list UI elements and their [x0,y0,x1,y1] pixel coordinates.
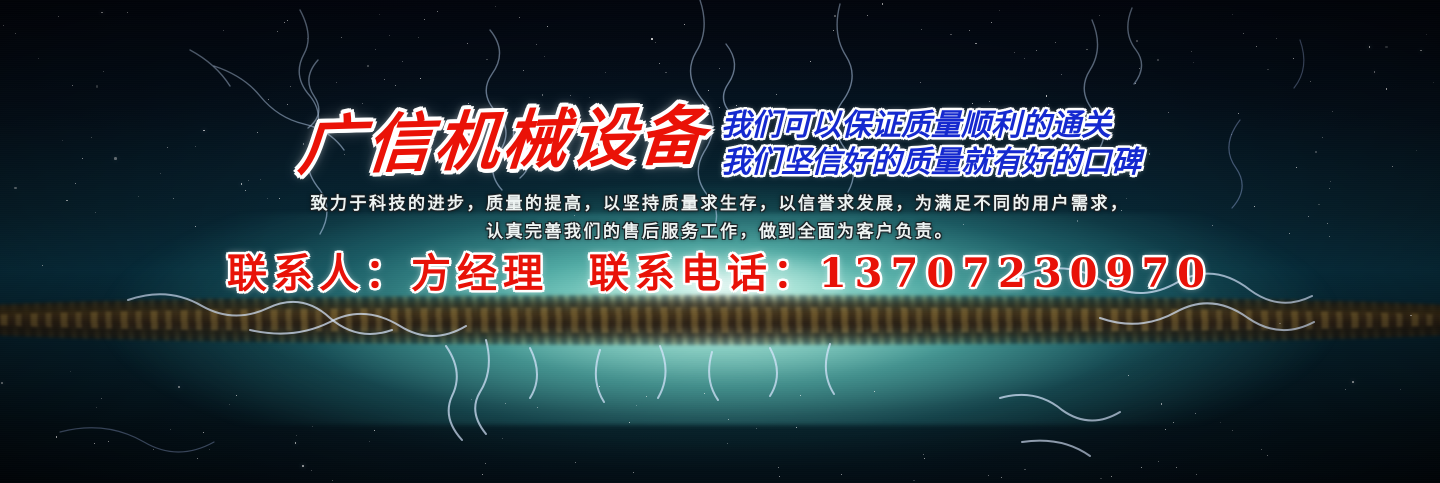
contact-spacer [549,250,589,297]
promo-banner: 广信机械设备 我们可以保证质量顺利的通关 我们坚信好的质量就有好的口碑 致力于科… [0,0,1440,483]
contact-row: 联系人：方经理 联系电话：13707230970 [0,252,1440,296]
contact-person-name: 方经理 [411,250,549,297]
tagline-line-2: 我们坚信好的质量就有好的口碑 [721,145,1141,180]
tagline-line-1: 我们可以保证质量顺利的通关 [721,108,1141,143]
headline-row: 广信机械设备 我们可以保证质量顺利的通关 我们坚信好的质量就有好的口碑 [0,96,1440,188]
slogan-line-1: 致力于科技的进步，质量的提高，以坚持质量求生存，以信誉求发展，为满足不同的用户需… [0,190,1440,218]
contact-person: 联系人： [227,250,411,297]
contact-phone-number[interactable]: 13707230970 [819,250,1213,297]
banner-content: 广信机械设备 我们可以保证质量顺利的通关 我们坚信好的质量就有好的口碑 致力于科… [0,0,1440,483]
contact-phone-label: 联系电话： [589,250,819,297]
brand-title: 广信机械设备 [296,105,710,180]
slogan-block: 致力于科技的进步，质量的提高，以坚持质量求生存，以信誉求发展，为满足不同的用户需… [0,190,1440,246]
slogan-line-2: 认真完善我们的售后服务工作，做到全面为客户负责。 [0,218,1440,246]
tagline-block: 我们可以保证质量顺利的通关 我们坚信好的质量就有好的口碑 [721,108,1141,180]
